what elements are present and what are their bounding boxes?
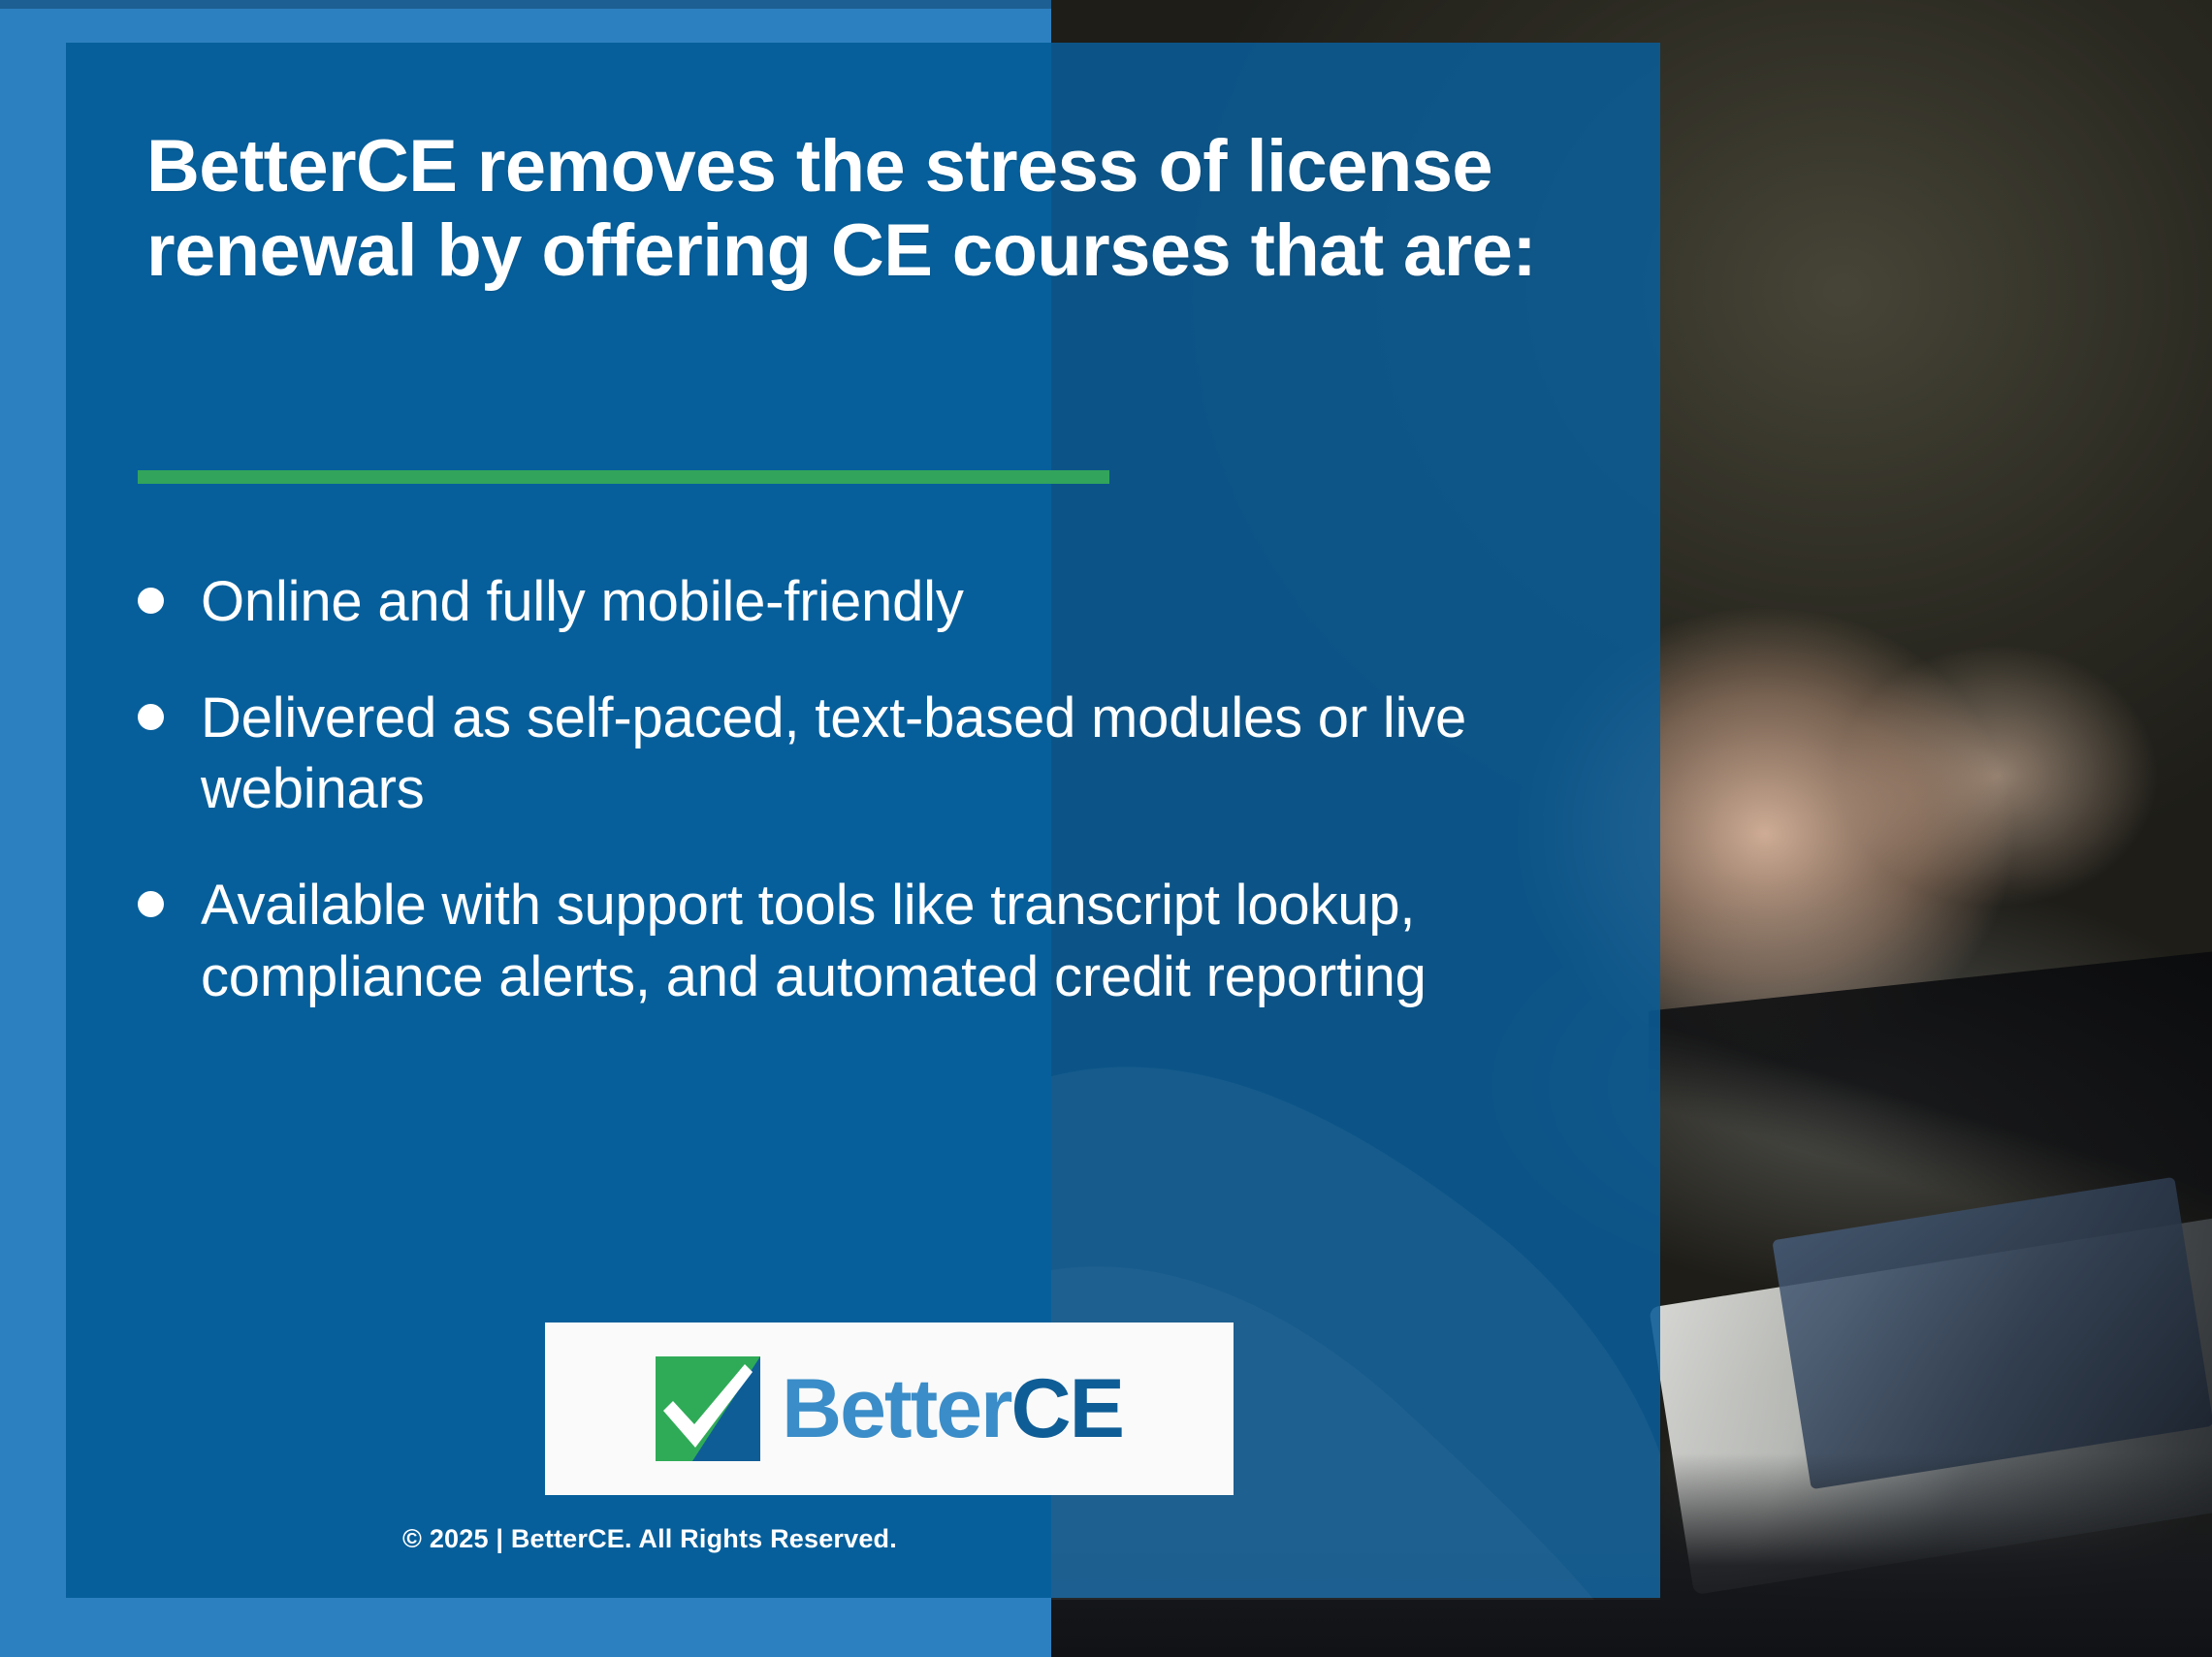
logo-wordmark: BetterCE [782,1367,1123,1450]
list-item: Online and fully mobile-friendly [138,566,1534,638]
checkmark-icon [656,1356,760,1461]
page-title: BetterCE removes the stress of license r… [146,125,1601,293]
list-item: Delivered as self-paced, text-based modu… [138,683,1534,825]
frame-top-line [0,0,1051,9]
logo-inner: BetterCE [656,1356,1123,1461]
bullet-dot-icon [138,704,164,730]
brand-logo: BetterCE [545,1322,1234,1495]
bullet-dot-icon [138,891,164,917]
benefits-list: Online and fully mobile-friendly Deliver… [138,566,1534,1012]
card-content: BetterCE removes the stress of license r… [66,43,1660,1598]
accent-divider [138,470,1109,484]
infographic-canvas: BetterCE removes the stress of license r… [0,0,2212,1657]
bullet-dot-icon [138,588,164,614]
copyright-text: © 2025 | BetterCE. All Rights Reserved. [66,1524,1234,1554]
list-item: Available with support tools like transc… [138,870,1534,1012]
list-item-label: Available with support tools like transc… [201,870,1534,1012]
logo-word-ce: CE [1011,1362,1123,1455]
list-item-label: Online and fully mobile-friendly [201,566,964,638]
list-item-label: Delivered as self-paced, text-based modu… [201,683,1534,825]
logo-word-better: Better [782,1362,1011,1455]
